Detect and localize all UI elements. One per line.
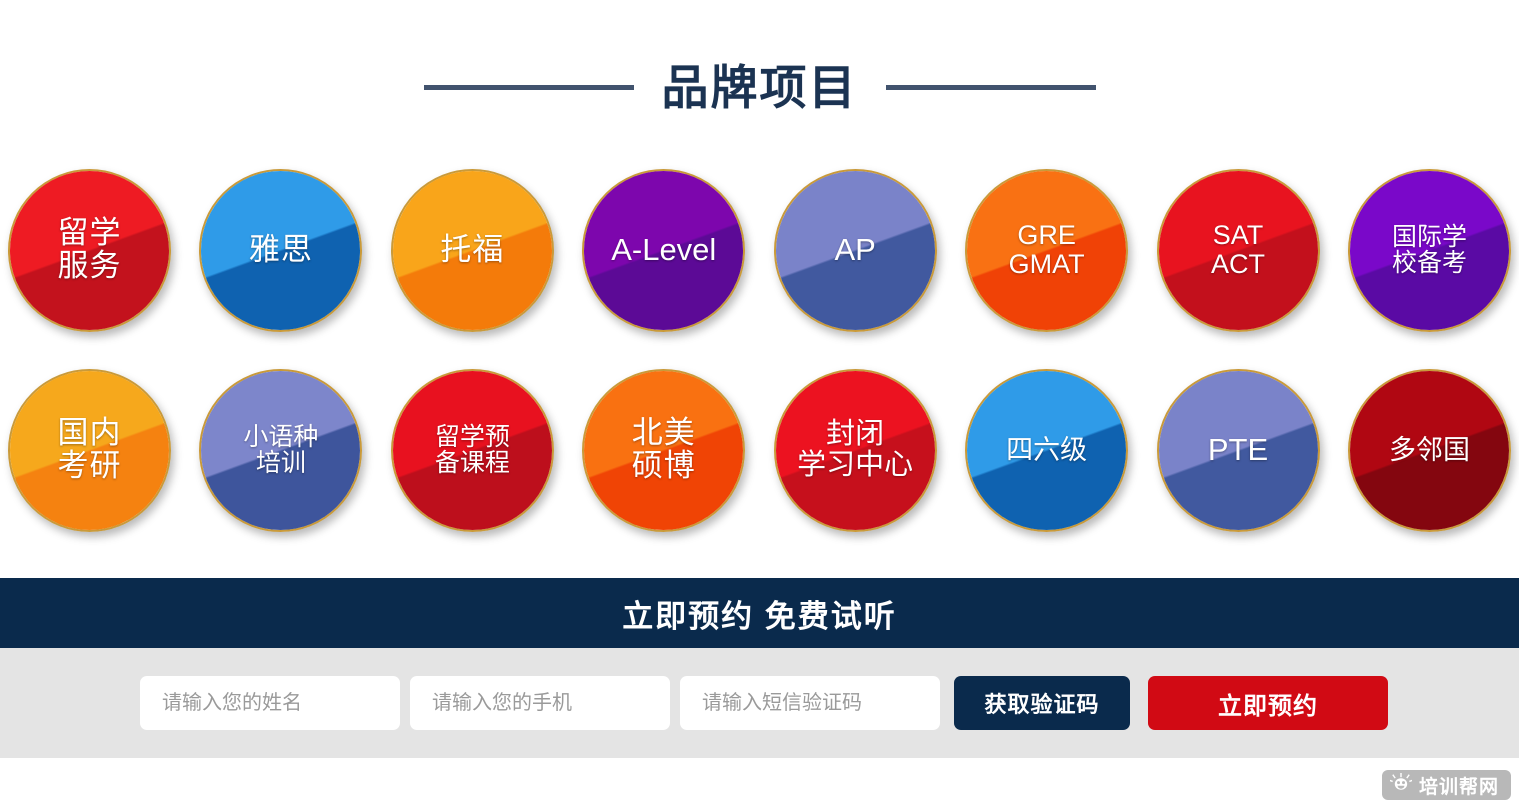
phone-input[interactable] xyxy=(410,676,670,730)
bubble-label: A-Level xyxy=(611,234,716,267)
bubble-label: SATACT xyxy=(1211,221,1265,278)
cta-banner-text: 立即预约 免费试听 xyxy=(622,591,897,636)
bubble-label: 北美硕博 xyxy=(632,417,696,483)
bubble-guonei-kaoyan[interactable]: 国内考研 xyxy=(8,369,171,532)
bubble-label: 封闭学习中心 xyxy=(797,419,913,480)
bubble-a-level[interactable]: A-Level xyxy=(582,169,745,332)
program-row-1: 留学服务雅思托福A-LevelAPGREGMATSATACT国际学校备考 xyxy=(8,160,1511,340)
bubble-label: AP xyxy=(835,234,876,267)
title-rule-left xyxy=(424,85,634,90)
bubble-label: PTE xyxy=(1208,434,1268,467)
bubble-label: 国际学校备考 xyxy=(1392,224,1467,277)
section-header: 品牌项目 xyxy=(0,0,1519,160)
bubble-siliuji[interactable]: 四六级 xyxy=(965,369,1128,532)
page-title: 品牌项目 xyxy=(662,64,858,111)
program-row-2: 国内考研小语种培训留学预备课程北美硕博封闭学习中心四六级PTE多邻国 xyxy=(8,360,1511,540)
name-input[interactable] xyxy=(140,676,400,730)
bubble-label: 四六级 xyxy=(1006,436,1087,465)
watermark-text: 培训帮网 xyxy=(1419,772,1499,799)
watermark: 培训帮网 xyxy=(1382,770,1511,800)
bubble-label: 留学预备课程 xyxy=(435,424,510,477)
bubble-beimei-shuobo[interactable]: 北美硕博 xyxy=(582,369,745,532)
bubble-guoji-xuexiao[interactable]: 国际学校备考 xyxy=(1348,169,1511,332)
bubble-fengbi-zhongxin[interactable]: 封闭学习中心 xyxy=(774,369,937,532)
bubble-pte[interactable]: PTE xyxy=(1157,369,1320,532)
bubble-label: 小语种培训 xyxy=(243,424,318,477)
reservation-form: 获取验证码 立即预约 xyxy=(0,648,1519,758)
bubble-yasi[interactable]: 雅思 xyxy=(199,169,362,332)
program-grid: 留学服务雅思托福A-LevelAPGREGMATSATACT国际学校备考 国内考… xyxy=(0,160,1519,540)
bubble-label: 多邻国 xyxy=(1389,436,1470,465)
bubble-label: 托福 xyxy=(440,234,504,267)
verification-code-input[interactable] xyxy=(680,676,940,730)
bubble-label: 国内考研 xyxy=(58,417,122,483)
get-code-button[interactable]: 获取验证码 xyxy=(954,676,1130,730)
bubble-duolinguo[interactable]: 多邻国 xyxy=(1348,369,1511,532)
bubble-sat-act[interactable]: SATACT xyxy=(1157,169,1320,332)
bubble-liuxue-fuwu[interactable]: 留学服务 xyxy=(8,169,171,332)
sun-face-icon xyxy=(1390,773,1412,798)
bubble-label: 雅思 xyxy=(249,234,313,267)
bubble-label: GREGMAT xyxy=(1009,221,1085,278)
bubble-ap[interactable]: AP xyxy=(774,169,937,332)
bubble-gre-gmat[interactable]: GREGMAT xyxy=(965,169,1128,332)
bubble-label: 留学服务 xyxy=(58,217,122,283)
bubble-tuofu[interactable]: 托福 xyxy=(391,169,554,332)
title-rule-right xyxy=(886,85,1096,90)
submit-reservation-button[interactable]: 立即预约 xyxy=(1148,676,1388,730)
cta-banner: 立即预约 免费试听 xyxy=(0,578,1519,648)
bubble-liuxue-yubei[interactable]: 留学预备课程 xyxy=(391,369,554,532)
bubble-xiaoyuzhong[interactable]: 小语种培训 xyxy=(199,369,362,532)
